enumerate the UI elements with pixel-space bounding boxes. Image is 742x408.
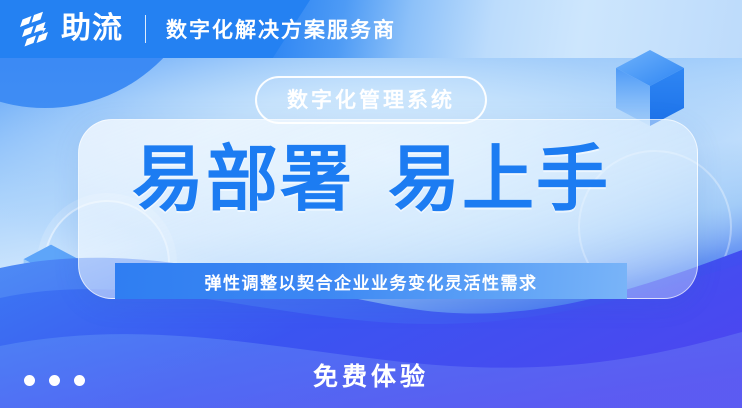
hero-subtitle-band: 弹性调整以契合企业业务变化灵活性需求 — [115, 263, 627, 299]
hero-headline: 易部署易上手 — [0, 143, 742, 215]
isometric-cube-icon — [614, 48, 686, 130]
free-trial-cta[interactable]: 免费体验 — [0, 357, 742, 393]
header: 助流 数字化解决方案服务商 — [0, 0, 396, 58]
headline-part-1: 易部署 — [132, 137, 354, 221]
carousel-dot-1[interactable] — [24, 375, 35, 386]
carousel-dots[interactable] — [24, 375, 85, 386]
brand-tagline: 数字化解决方案服务商 — [166, 14, 396, 44]
header-divider — [145, 15, 146, 43]
zhuliu-lightning-logo-icon — [18, 11, 54, 47]
hero-subtitle: 弹性调整以契合企业业务变化灵活性需求 — [205, 269, 538, 294]
promo-banner: 助流 数字化解决方案服务商 数字化管理系统 易部署易上手 弹性调整以契合企业业务… — [0, 0, 742, 408]
headline-part-2: 易上手 — [388, 137, 610, 221]
brand-name: 助流 — [61, 14, 123, 44]
carousel-dot-3[interactable] — [74, 375, 85, 386]
carousel-dot-2[interactable] — [49, 375, 60, 386]
system-badge: 数字化管理系统 — [255, 76, 487, 124]
